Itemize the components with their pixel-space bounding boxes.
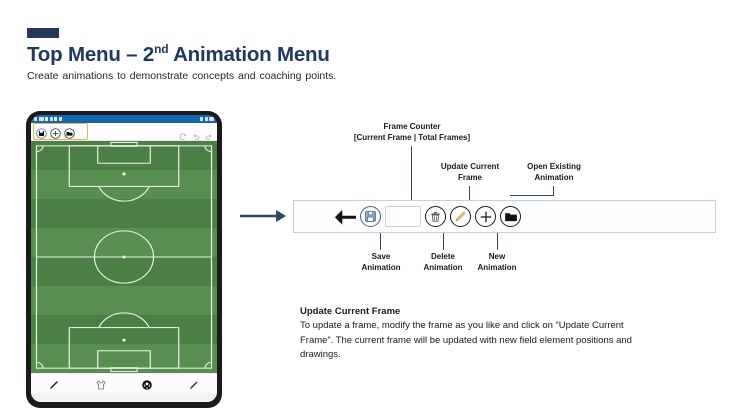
back-icon[interactable] <box>144 395 150 401</box>
status-bar-left <box>34 117 62 121</box>
callout-frame-counter: Frame Counter [Current Frame | Total Fra… <box>333 122 491 144</box>
signal-icon <box>205 117 208 121</box>
callout-open-existing-animation: Open Existing Animation <box>508 162 600 184</box>
pencil-icon[interactable] <box>48 378 60 390</box>
status-bar <box>31 115 217 123</box>
page-title-sup: nd <box>154 42 168 56</box>
wifi-icon <box>200 117 203 121</box>
new-animation-icon[interactable] <box>50 126 61 137</box>
soccer-pitch[interactable] <box>31 141 217 373</box>
page-title-post: Animation Menu <box>168 43 329 66</box>
status-icon <box>50 117 53 121</box>
undo-icon[interactable] <box>192 128 200 136</box>
status-bar-right <box>200 117 214 121</box>
callout-save-animation: Save Animation <box>350 252 412 274</box>
status-icon <box>54 117 57 121</box>
save-animation-button[interactable] <box>360 206 381 227</box>
open-existing-animation-button[interactable] <box>500 206 521 227</box>
status-icon <box>39 117 44 121</box>
callout-frame-counter-line2: [Current Frame | Total Frames] <box>333 133 491 144</box>
new-animation-button[interactable] <box>475 206 496 227</box>
save-icon[interactable] <box>36 126 47 137</box>
page-title-pre: Top Menu – 2 <box>27 43 154 66</box>
accent-bar <box>27 28 59 38</box>
note-body: To update a frame, modify the frame as y… <box>300 319 650 363</box>
keyboard-icon[interactable] <box>191 395 197 401</box>
marker-icon[interactable] <box>188 378 200 390</box>
note-block: Update Current Frame To update a frame, … <box>300 306 650 363</box>
tablet-toolbar-right <box>179 128 213 136</box>
status-icon <box>34 117 37 121</box>
battery-icon <box>209 117 214 121</box>
status-icon <box>45 117 48 121</box>
reset-icon[interactable] <box>179 128 187 136</box>
leader-line-save-animation <box>380 233 381 250</box>
delete-animation-button[interactable] <box>425 206 446 227</box>
pencil-icon <box>454 210 467 223</box>
leader-line-new-animation <box>497 233 498 250</box>
callout-new-animation: New Animation <box>466 252 528 274</box>
page-title: Top Menu – 2nd Animation Menu <box>27 42 330 67</box>
folder-icon <box>504 210 518 224</box>
pitch-markings <box>31 141 217 373</box>
jersey-icon[interactable] <box>95 378 107 390</box>
tablet-bottom-nav <box>31 373 217 393</box>
back-arrow-icon[interactable] <box>334 209 356 225</box>
animation-menu-items <box>294 201 521 232</box>
callout-delete-animation: Delete Animation <box>412 252 474 274</box>
tablet-screen <box>31 115 217 402</box>
leader-line-delete-animation <box>443 233 444 250</box>
soccer-ball-icon[interactable] <box>141 378 153 390</box>
redo-icon[interactable] <box>205 128 213 136</box>
pointer-arrow-icon <box>240 206 290 226</box>
status-icon <box>59 117 62 121</box>
leader-line-frame-counter <box>411 146 412 201</box>
leader-line-update-frame <box>469 186 470 201</box>
note-title: Update Current Frame <box>300 306 650 317</box>
plus-icon <box>479 210 493 224</box>
update-current-frame-button[interactable] <box>450 206 471 227</box>
leader-line-open-animation-h <box>510 195 554 196</box>
tablet-toolbar-left <box>33 126 75 137</box>
frame-counter-input[interactable] <box>385 206 421 227</box>
floppy-disk-icon <box>364 210 377 223</box>
trash-icon <box>429 210 442 223</box>
page-subtitle: Create animations to demonstrate concept… <box>27 70 336 82</box>
tablet-app-toolbar <box>31 123 217 141</box>
callout-update-current-frame: Update Current Frame <box>424 162 516 184</box>
tablet-system-nav <box>31 393 217 402</box>
slide-canvas: Top Menu – 2nd Animation Menu Create ani… <box>0 0 740 416</box>
recents-icon[interactable] <box>51 395 57 401</box>
open-folder-icon[interactable] <box>64 126 75 137</box>
home-icon[interactable] <box>98 395 104 401</box>
callout-frame-counter-line1: Frame Counter <box>333 122 491 133</box>
animation-menu-strip <box>293 200 716 233</box>
tablet-device <box>26 111 222 408</box>
